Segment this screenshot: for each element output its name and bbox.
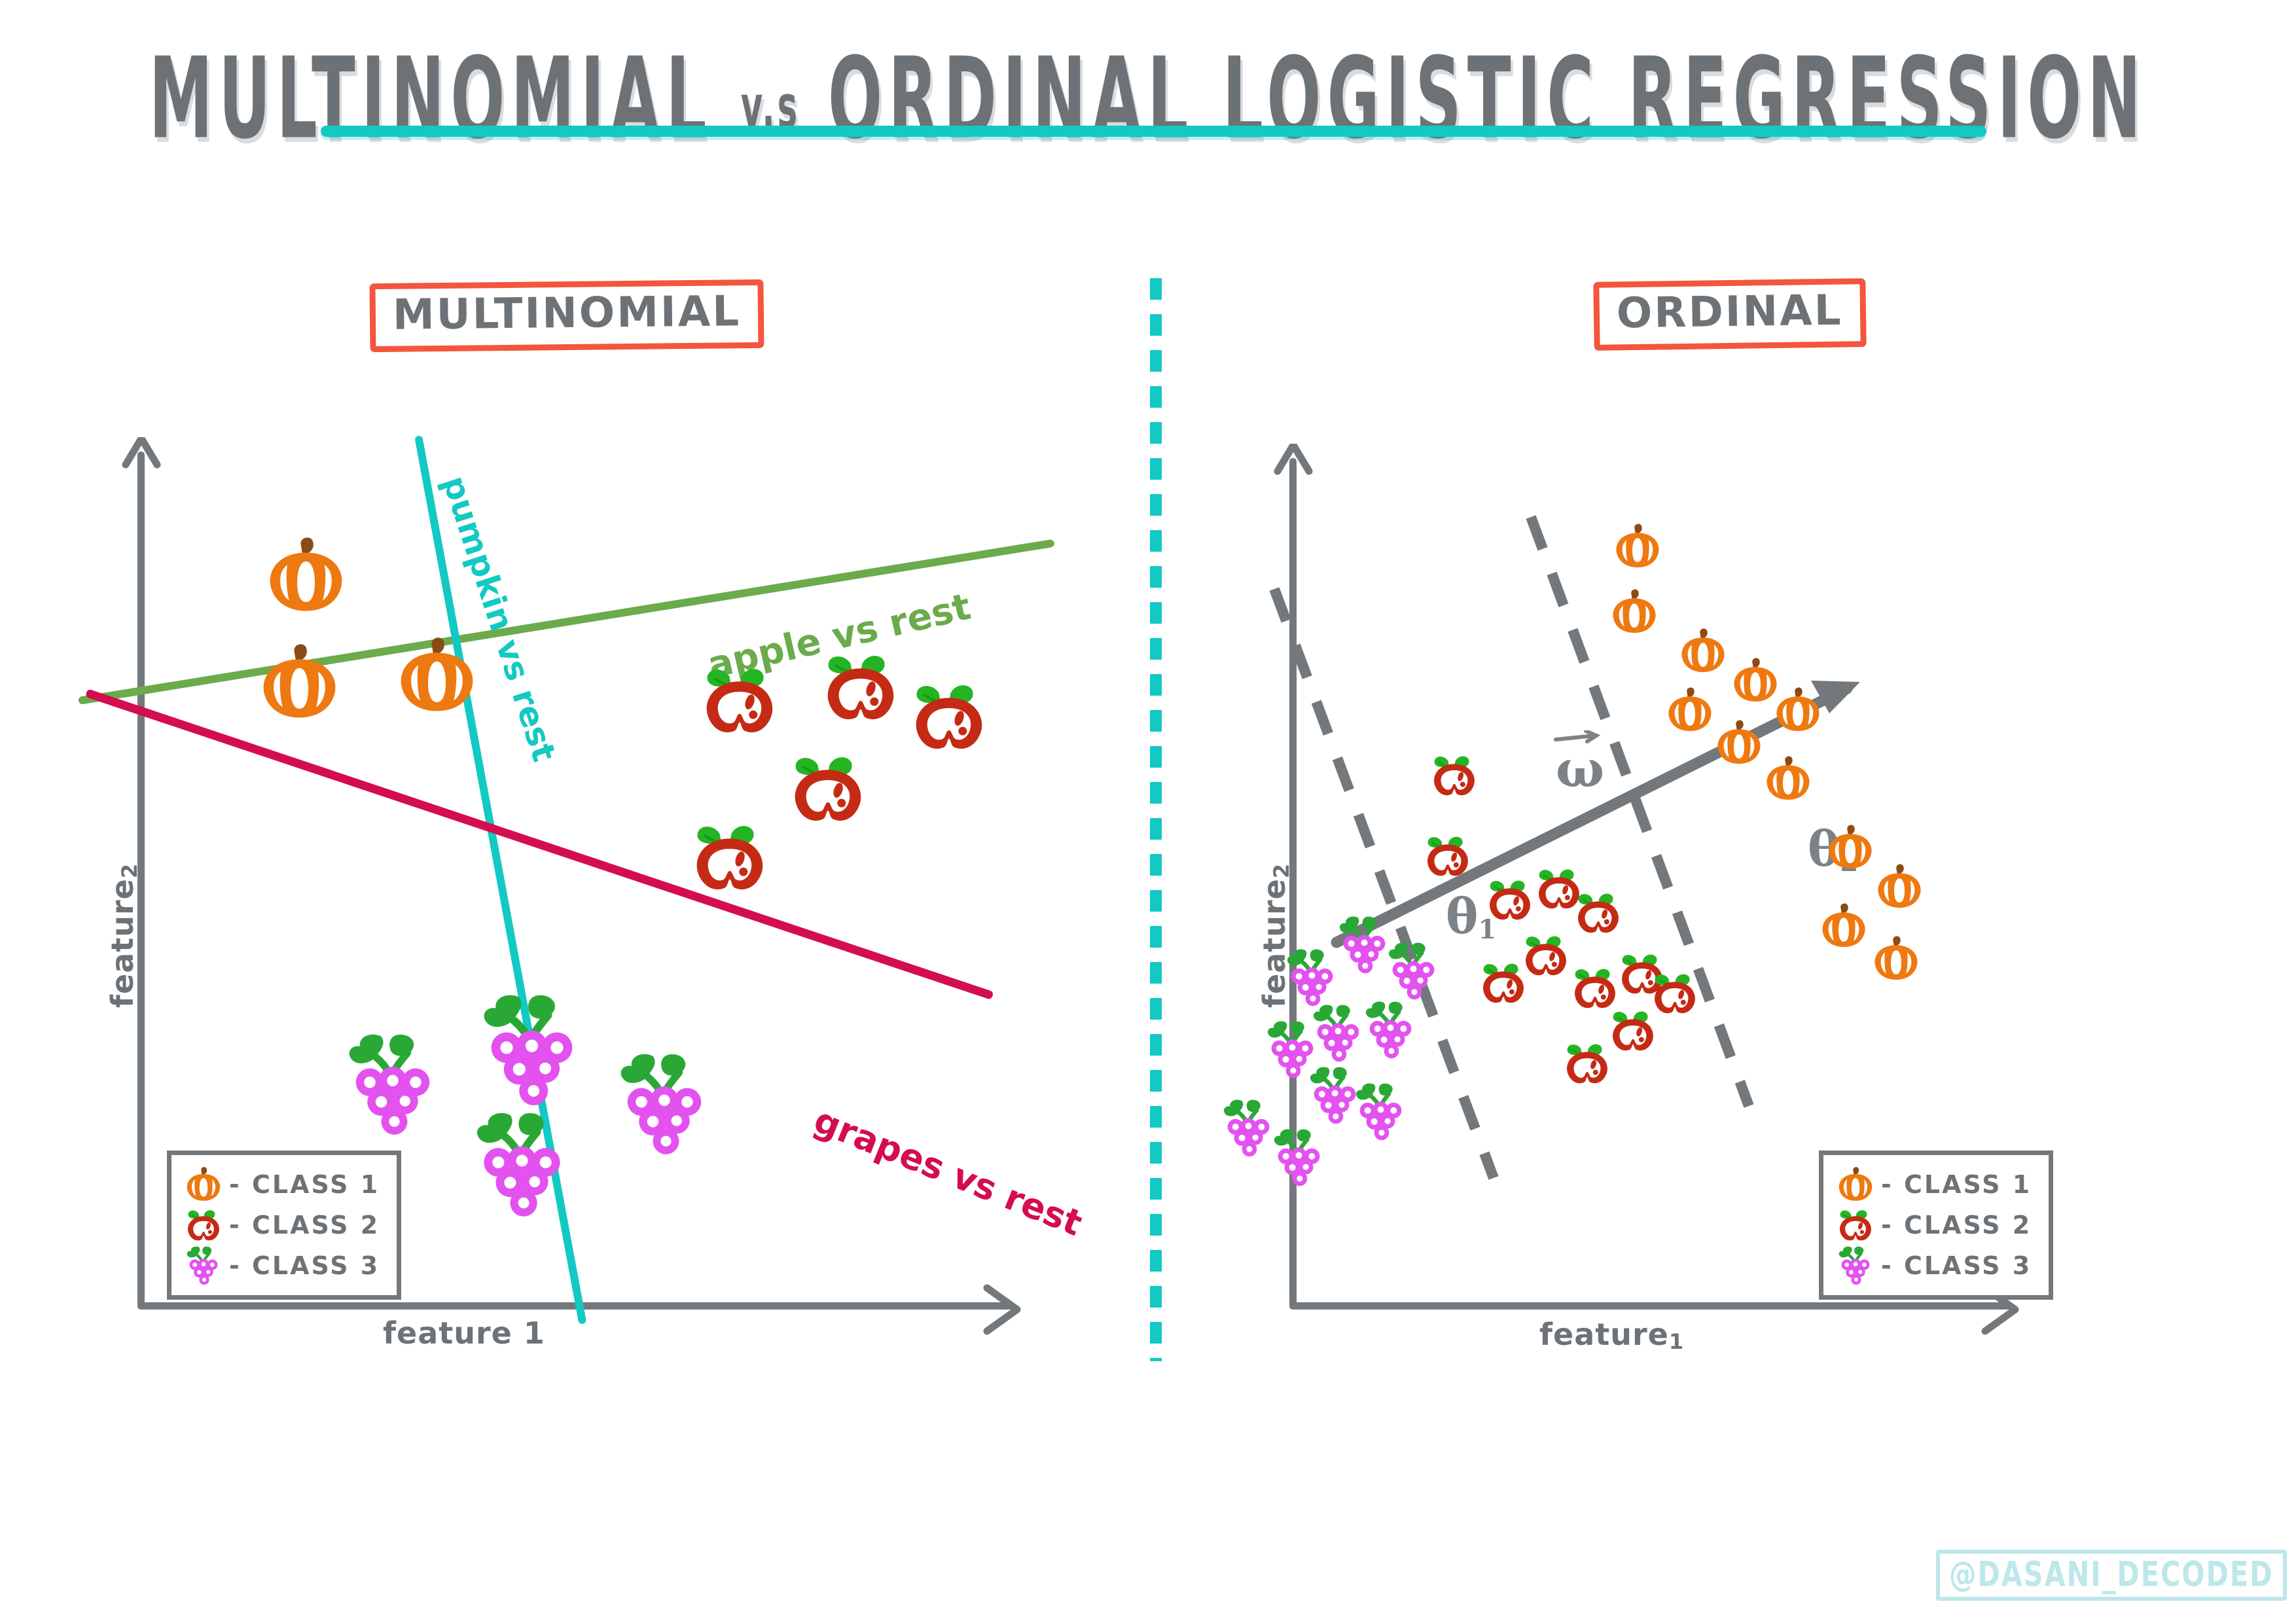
grapes-icon xyxy=(1353,1080,1408,1144)
legend-item: - CLASS 2 xyxy=(182,1205,380,1245)
grapes-icon xyxy=(1834,1245,1877,1286)
grapes-vs-rest-label: grapes vs rest xyxy=(808,1099,1088,1244)
x-axis-arrow-left xyxy=(982,1284,1028,1335)
legend-label: - CLASS 1 xyxy=(1881,1170,2032,1199)
pumpkin-icon xyxy=(1713,717,1765,769)
grapes-icon xyxy=(182,1245,225,1286)
y-axis-label-sub-left: 2 xyxy=(117,863,142,878)
legend-label: - CLASS 3 xyxy=(229,1251,380,1280)
pumpkin-icon xyxy=(1824,821,1876,874)
legend-right: - CLASS 1 - CLASS 2 - CLASS 3 xyxy=(1819,1150,2053,1300)
omega-text: ω xyxy=(1556,740,1604,799)
y-axis-label-text-left: feature xyxy=(105,878,140,1008)
pumpkin-icon xyxy=(1677,625,1729,677)
legend-label: - CLASS 3 xyxy=(1881,1251,2032,1280)
vector-arrow-icon xyxy=(1553,730,1602,746)
multinomial-badge: MULTINOMIAL xyxy=(369,279,764,352)
watermark-text: @DASANI_DECODED xyxy=(1949,1554,2274,1594)
apple-icon xyxy=(182,1205,225,1245)
x-axis-label-left: feature 1 xyxy=(383,1315,545,1351)
pumpkin-icon xyxy=(262,531,350,620)
pumpkin-icon xyxy=(182,1164,225,1205)
legend-item: - CLASS 3 xyxy=(1834,1245,2032,1286)
grapes-icon xyxy=(1363,998,1418,1062)
legend-label: - CLASS 2 xyxy=(1881,1211,2032,1240)
watermark: @DASANI_DECODED xyxy=(1936,1550,2287,1601)
pumpkin-icon xyxy=(255,638,344,726)
y-axis-label-left: feature2 xyxy=(105,863,142,1008)
grapes-icon xyxy=(615,1047,713,1162)
legend-item: - CLASS 1 xyxy=(182,1164,380,1205)
pumpkin-icon xyxy=(393,632,481,720)
pumpkin-icon xyxy=(1873,861,1926,913)
grapes-icon xyxy=(1336,913,1392,977)
multinomial-panel: MULTINOMIAL feature2 feature 1 apple vs … xyxy=(0,0,1150,1623)
apple-icon xyxy=(1428,749,1480,802)
legend-item: - CLASS 3 xyxy=(182,1245,380,1286)
apple-icon xyxy=(1572,887,1624,939)
grapes-icon xyxy=(1386,939,1441,1003)
apple-icon xyxy=(1477,957,1530,1009)
grapes-icon xyxy=(1271,1126,1327,1190)
pumpkin-icon xyxy=(1834,1164,1877,1205)
omega-vector-arrow xyxy=(1150,0,2296,1623)
y-axis-arrow-left xyxy=(117,437,169,476)
pumpkin-icon xyxy=(1664,684,1716,736)
legend-left: - CLASS 1 - CLASS 2 - CLASS 3 xyxy=(167,1150,401,1300)
apple-icon xyxy=(1484,874,1536,926)
multinomial-badge-label: MULTINOMIAL xyxy=(393,292,742,335)
apple-icon xyxy=(785,746,870,831)
apple-icon xyxy=(697,658,782,743)
pumpkin-icon xyxy=(1818,900,1870,952)
legend-item: - CLASS 2 xyxy=(1834,1205,2032,1245)
legend-label: - CLASS 2 xyxy=(229,1211,380,1240)
legend-label: - CLASS 1 xyxy=(229,1170,380,1199)
pumpkin-icon xyxy=(1608,586,1660,638)
ordinal-panel: ORDINAL feature2 feature1 ω θ1 θ2 xyxy=(1150,0,2296,1623)
pumpkin-icon xyxy=(1611,520,1664,573)
apple-icon xyxy=(1561,1037,1613,1090)
pumpkin-icon xyxy=(1870,933,1922,985)
theta-1-text: θ xyxy=(1446,889,1478,945)
apple-icon xyxy=(1834,1205,1877,1245)
omega-label: ω xyxy=(1556,740,1604,799)
grapes-icon xyxy=(344,1027,442,1142)
grapes-icon xyxy=(1221,1096,1276,1160)
grapes-icon xyxy=(478,988,586,1113)
apple-icon xyxy=(818,645,903,730)
legend-item: - CLASS 1 xyxy=(1834,1164,2032,1205)
grapes-icon xyxy=(471,1106,573,1224)
apple-icon xyxy=(687,815,772,900)
apple-icon xyxy=(1422,830,1474,882)
apple-icon xyxy=(906,674,992,759)
pumpkin-icon xyxy=(1762,753,1814,805)
apple-icon xyxy=(1607,1005,1659,1057)
pumpkin-icon xyxy=(1772,684,1824,736)
grapes-icon xyxy=(1284,946,1340,1010)
